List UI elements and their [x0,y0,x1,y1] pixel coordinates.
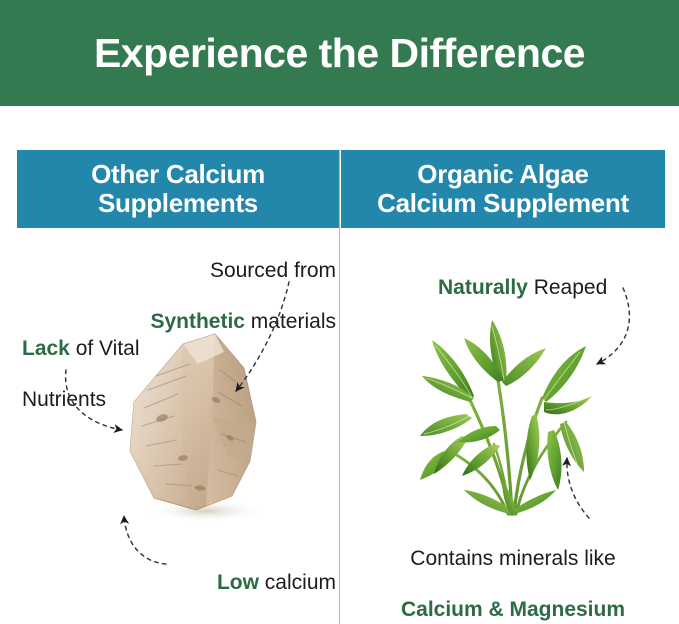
page-title: Experience the Difference [94,33,585,74]
arrow-low-to-rock [124,516,166,564]
note-highlight-lack: Lack [22,337,70,360]
header-banner: Experience the Difference [0,0,679,106]
note-line-text: Reaped [528,276,607,299]
column-header-label-left: Other Calcium Supplements [91,160,265,218]
column-header-label-right: Organic Algae Calcium Supplement [377,160,629,218]
note-line-text: Contains minerals like [410,547,615,570]
rock-image [120,330,285,522]
note-line-text: Sourced from [210,259,336,282]
note-highlight-low: Low [217,571,259,594]
column-divider [339,150,340,624]
comparison-infographic: Experience the Difference Other Calcium … [0,0,679,624]
note-low-calcium-rate: Low calcium rate [170,545,336,624]
note-highlight-calcium-magnesium: Calcium & Magnesium [401,598,625,621]
note-highlight-naturally: Naturally [438,276,528,299]
note-naturally-reaped: Naturally Reaped [438,250,658,300]
note-line-text: Nutrients [22,388,106,411]
algae-image [418,318,608,523]
column-header-organic-algae: Organic Algae Calcium Supplement [341,150,665,228]
note-contains-minerals: Contains minerals like Calcium & Magnesi… [358,521,668,624]
note-line-text: calcium [259,571,336,594]
column-header-other-calcium: Other Calcium Supplements [17,150,339,228]
